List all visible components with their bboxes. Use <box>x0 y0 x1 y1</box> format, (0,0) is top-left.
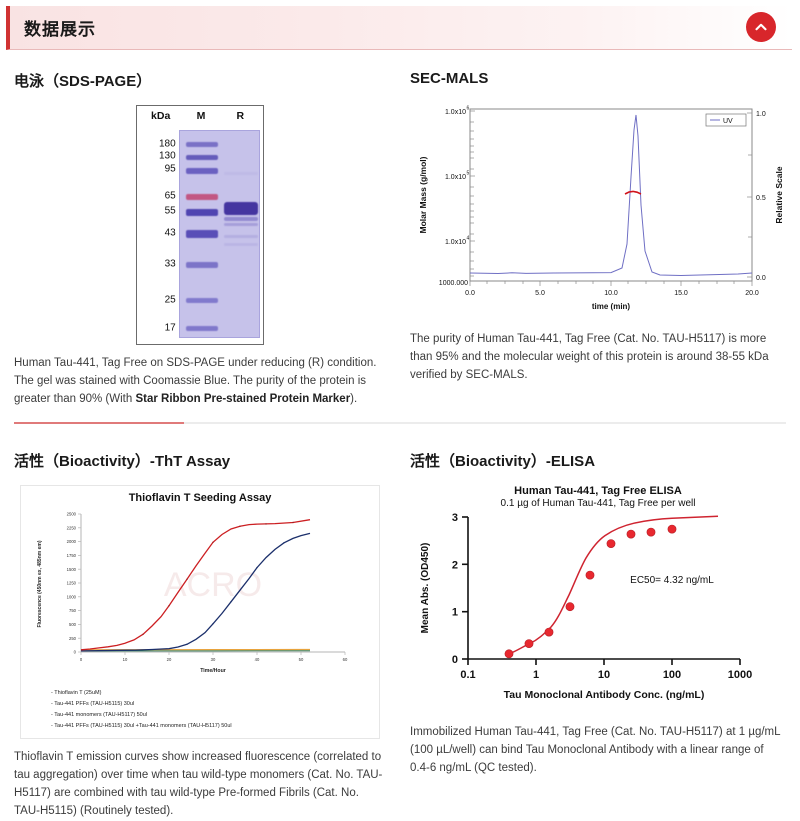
tht-xtick: 50 <box>299 657 304 662</box>
gel-body: 180 130 95 65 55 43 33 25 17 <box>140 130 260 338</box>
sec-mals-y2label: Relative Scale <box>774 166 784 223</box>
elisa-caption: Immobilized Human Tau-441, Tag Free (Cat… <box>410 724 786 777</box>
ladder-label: 25 <box>165 295 176 306</box>
elisa-chart-title: Human Tau-441, Tag Free ELISA <box>410 485 786 497</box>
data-display-page: 数据展示 电泳（SDS-PAGE） kDa M R 1 <box>0 6 800 796</box>
gel-header-reduced: R <box>221 110 260 128</box>
tht-ytick: 250 <box>69 636 77 641</box>
elisa-point <box>586 571 594 579</box>
sec-mals-yexp: 5 <box>467 171 470 177</box>
elisa-xtick: 100 <box>663 669 681 681</box>
gel-ladder-labels: 180 130 95 65 55 43 33 25 17 <box>140 130 179 338</box>
ladder-label: 55 <box>165 206 176 217</box>
marker-band-95 <box>186 168 218 174</box>
sec-mals-plot: Molar Mass (g/mol) Relative Scale 1.0x10… <box>410 101 790 316</box>
tht-title: 活性（Bioactivity）-ThT Assay <box>14 450 386 471</box>
tht-ytick: 0 <box>74 650 77 655</box>
elisa-xtick: 10 <box>598 669 610 681</box>
gel-header-marker: M <box>181 110 220 128</box>
tht-plot: Fluorescence (450nm ex, 485nm em) 0 250 … <box>25 504 395 679</box>
collapse-button[interactable] <box>746 12 776 42</box>
tht-xtick: 10 <box>123 657 128 662</box>
elisa-data-points <box>505 525 676 658</box>
elisa-xtick: 1000 <box>728 669 752 681</box>
tht-ytick: 2000 <box>67 540 77 545</box>
elisa-chart-subtitle: 0.1 µg of Human Tau-441, Tag Free per we… <box>410 498 786 509</box>
ladder-label: 130 <box>159 151 176 162</box>
gel-lane-headers: kDa M R <box>140 110 260 128</box>
sec-mals-xtick: 10.0 <box>604 290 618 297</box>
watermark: ACRO <box>164 566 262 604</box>
tht-ytick: 2250 <box>67 526 77 531</box>
sec-mals-xtick: 20.0 <box>745 290 759 297</box>
elisa-ytick: 3 <box>452 512 458 524</box>
sds-page-cell: 电泳（SDS-PAGE） kDa M R 180 130 95 65 <box>0 50 400 408</box>
sec-mals-ytick: 1.0x10 <box>445 239 466 246</box>
sec-mals-y2tick: 1.0 <box>756 111 766 118</box>
sample-band-main <box>224 202 258 215</box>
ladder-label: 17 <box>165 323 176 334</box>
sds-page-gel-image: kDa M R 180 130 95 65 55 43 33 <box>136 105 264 345</box>
tht-legend-item: Thioflavin T (25uM) <box>51 690 375 696</box>
elisa-xtick: 1 <box>533 669 539 681</box>
sample-band-faint-top <box>224 172 258 175</box>
tht-ytick: 1250 <box>67 581 77 586</box>
sample-band-lower-2 <box>224 223 258 226</box>
marker-band-17 <box>186 326 218 331</box>
elisa-point <box>607 540 615 548</box>
elisa-point <box>505 650 513 658</box>
sec-mals-y2tick: 0.5 <box>756 195 766 202</box>
sec-mals-ytick: 1.0x10 <box>445 109 466 116</box>
marker-band-180 <box>186 142 218 147</box>
tht-chart-card: Thioflavin T Seeding Assay Fluorescence … <box>20 485 380 739</box>
sec-mals-title: SEC-MALS <box>410 70 786 87</box>
elisa-ylabel: Mean Abs. (OD450) <box>420 543 431 634</box>
tht-cell: 活性（Bioactivity）-ThT Assay Thioflavin T S… <box>0 430 400 820</box>
tht-xtick: 0 <box>80 657 83 662</box>
tht-ytick: 1750 <box>67 553 77 558</box>
sds-page-caption: Human Tau-441, Tag Free on SDS-PAGE unde… <box>14 355 386 408</box>
gel-header-kda: kDa <box>140 110 181 128</box>
ladder-label: 65 <box>165 191 176 202</box>
sec-mals-legend: UV <box>706 114 746 126</box>
elisa-ec50-annotation: EC50= 4.32 ng/mL <box>630 575 714 586</box>
marker-band-25 <box>186 298 218 303</box>
chevron-up-icon <box>753 19 769 35</box>
sec-mals-chart: Molar Mass (g/mol) Relative Scale 1.0x10… <box>410 101 786 321</box>
sec-mals-xtick: 15.0 <box>674 290 688 297</box>
sec-mals-xlabel: time (min) <box>592 302 631 311</box>
elisa-point <box>627 530 635 538</box>
elisa-point <box>566 603 574 611</box>
tht-xtick: 20 <box>167 657 172 662</box>
sds-caption-bold: Star Ribbon Pre-stained Protein Marker <box>135 393 350 405</box>
elisa-point <box>545 628 553 636</box>
sec-mals-yexp: 4 <box>467 236 470 242</box>
row-one: 电泳（SDS-PAGE） kDa M R 180 130 95 65 <box>0 50 800 408</box>
tht-ytick: 750 <box>69 609 77 614</box>
sample-band-lower-4 <box>224 243 258 246</box>
sec-mals-ytick: 1.0x10 <box>445 174 466 181</box>
ladder-label: 180 <box>159 139 176 150</box>
tht-ytick: 2500 <box>67 512 77 517</box>
row-two: 活性（Bioactivity）-ThT Assay Thioflavin T S… <box>0 430 800 820</box>
page-title: 数据展示 <box>10 15 96 40</box>
sec-mals-ytick: 1000.000 <box>439 280 468 287</box>
elisa-point <box>668 525 676 533</box>
elisa-ytick: 1 <box>452 607 458 619</box>
tht-ytick: 500 <box>69 622 77 627</box>
gel-lanes <box>179 130 260 338</box>
marker-band-65 <box>186 194 218 200</box>
sample-band-lower-1 <box>224 217 258 221</box>
tht-legend-item: Tau-441 PFFs (TAU-H5115) 30ul +Tau-441 m… <box>51 723 375 729</box>
tht-legend-item: Tau-441 monomers (TAU-H5117) 50ul <box>51 712 375 718</box>
tht-ytick: 1500 <box>67 567 77 572</box>
elisa-xlabel: Tau Monoclonal Antibody Conc. (ng/mL) <box>504 689 705 701</box>
elisa-title: 活性（Bioactivity）-ELISA <box>410 450 786 471</box>
sds-page-title: 电泳（SDS-PAGE） <box>14 70 386 91</box>
sec-mals-caption: The purity of Human Tau-441, Tag Free (C… <box>410 331 786 384</box>
elisa-ytick: 2 <box>452 560 458 572</box>
tht-caption: Thioflavin T emission curves show increa… <box>14 749 386 820</box>
sec-mals-legend-label: UV <box>723 118 733 125</box>
marker-band-33 <box>186 262 218 268</box>
elisa-xtick: 0.1 <box>460 669 475 681</box>
marker-band-130 <box>186 155 218 160</box>
ladder-label: 33 <box>165 259 176 270</box>
elisa-point <box>647 528 655 536</box>
section-header: 数据展示 <box>6 6 792 50</box>
ladder-label: 95 <box>165 164 176 175</box>
section-divider <box>14 422 786 424</box>
sec-mals-xtick: 5.0 <box>535 290 545 297</box>
tht-xtick: 60 <box>343 657 348 662</box>
sample-band-lower-3 <box>224 235 258 238</box>
elisa-ytick: 0 <box>452 654 458 666</box>
elisa-plot: Mean Abs. (OD450) 0 1 2 3 <box>410 509 790 709</box>
tht-ytick: 1000 <box>67 595 77 600</box>
sec-mals-y2tick: 0.0 <box>756 275 766 282</box>
marker-band-43 <box>186 230 218 238</box>
sec-mals-yexp: 6 <box>467 106 470 112</box>
sec-mals-cell: SEC-MALS Molar Mass (g/mol) Relative Sca… <box>400 50 800 408</box>
tht-ylabel: Fluorescence (450nm ex, 485nm em) <box>37 541 43 628</box>
tht-chart-title: Thioflavin T Seeding Assay <box>25 492 375 504</box>
tht-xtick: 40 <box>255 657 260 662</box>
gel-image-wrap: kDa M R 180 130 95 65 55 43 33 <box>14 105 386 345</box>
elisa-point <box>525 640 533 648</box>
ladder-label: 43 <box>165 228 176 239</box>
tht-legend: Thioflavin T (25uM) Tau-441 PFFs (TAU-H5… <box>51 690 375 729</box>
sec-mals-xtick: 0.0 <box>465 290 475 297</box>
sds-caption-part2: ). <box>350 393 357 405</box>
elisa-cell: 活性（Bioactivity）-ELISA Human Tau-441, Tag… <box>400 430 800 820</box>
marker-band-55 <box>186 209 218 216</box>
tht-xtick: 30 <box>211 657 216 662</box>
tht-legend-item: Tau-441 PFFs (TAU-H5115) 30ul <box>51 701 375 707</box>
tht-xlabel: Time/Hour <box>200 668 226 674</box>
sec-mals-ylabel: Molar Mass (g/mol) <box>418 156 428 233</box>
elisa-chart: Human Tau-441, Tag Free ELISA 0.1 µg of … <box>410 485 786 714</box>
